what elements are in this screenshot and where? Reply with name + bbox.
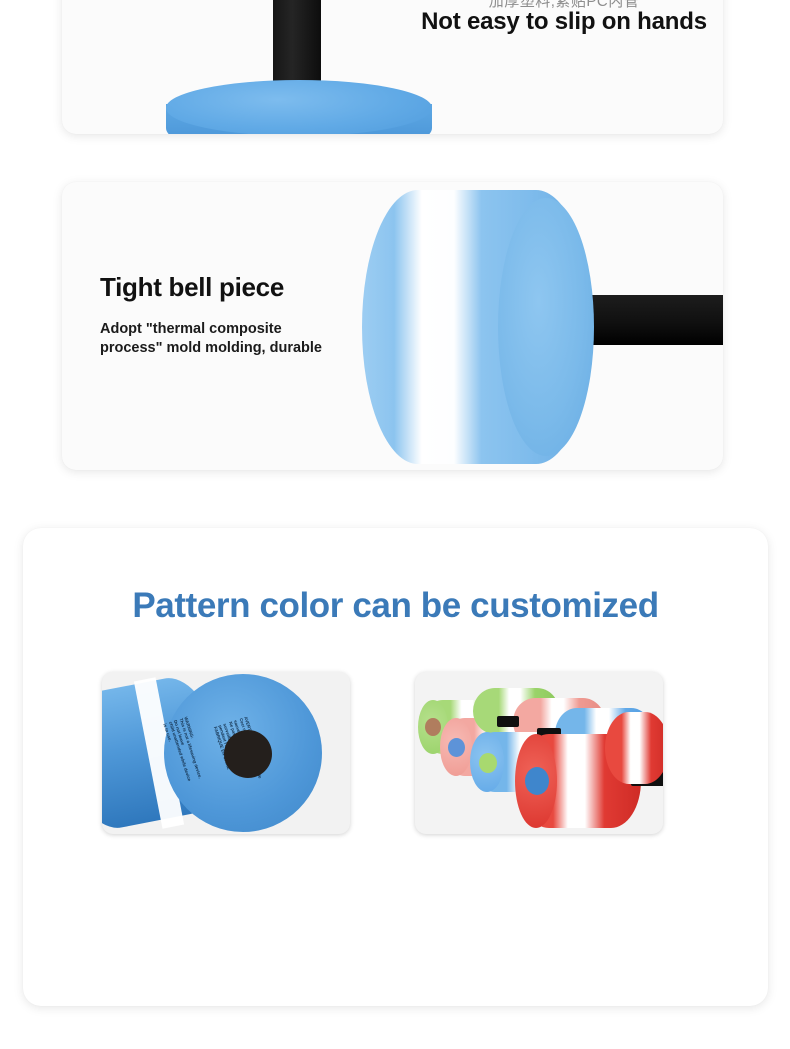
foam-drum-shape [362,190,592,464]
dumbbell-red-back [605,712,663,784]
foam-drum-face-shape [498,198,594,456]
option-color-customization[interactable]: Color customization [405,672,673,834]
customization-heading: Pattern color can be customized [23,586,768,626]
dumbbell-pink-hub [448,738,465,757]
bell-subtitle: Adopt "thermal composite process" mold m… [100,320,338,357]
option-pattern-printing[interactable]: WARNING: This is not a lifesaving device… [92,672,360,834]
foam-center-hole-shape [224,730,272,778]
foam-disc-top-shape [166,80,432,134]
feature-card-bell-piece: Tight bell piece Adopt "thermal composit… [62,182,723,470]
pattern-printing-thumbnail[interactable]: WARNING: This is not a lifesaving device… [102,672,350,834]
dumbbell-pink-back-shaft [497,716,519,727]
product-photo-dumbbell [330,182,723,470]
bell-title: Tight bell piece [100,272,284,303]
feature-card-grip: 加厚塑料,紧贴PC内管 Not easy to slip on hands [62,0,723,134]
color-customization-thumbnail[interactable] [415,672,663,834]
dumbbell-red-front-hub [525,767,549,795]
grip-title: Not easy to slip on hands [414,8,714,36]
dumbbell-blue-hub [479,753,497,773]
product-photo-grip [62,0,412,134]
dumbbell-green-hub [425,718,441,736]
customization-card: Pattern color can be customized WARNING:… [23,528,768,1006]
